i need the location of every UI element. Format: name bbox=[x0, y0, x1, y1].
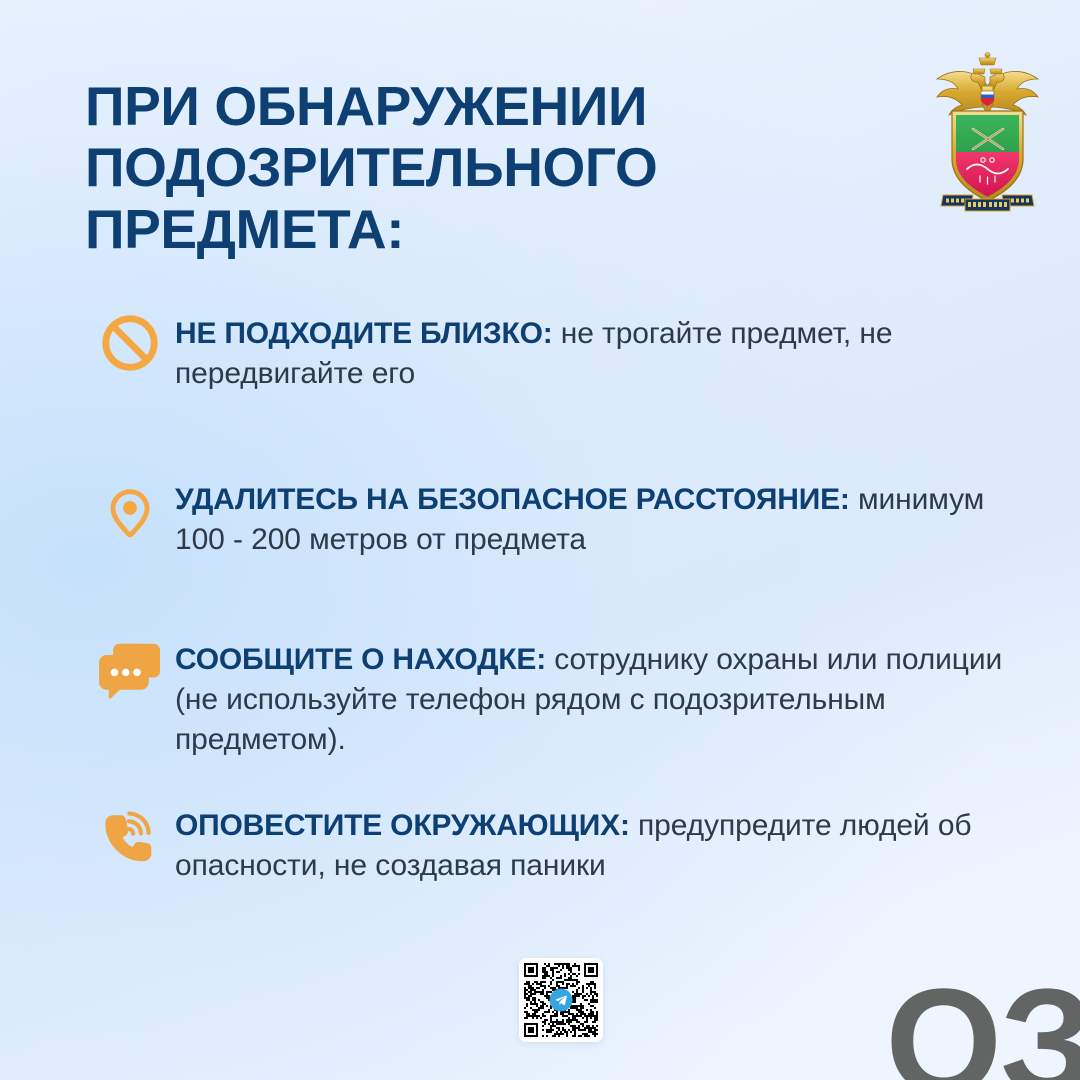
poster-canvas: ОЗ ПРИ ОБНАРУЖЕНИИ ПОДОЗРИТЕЛЬНОГО ПРЕДМ… bbox=[0, 0, 1080, 1080]
emblem-shield bbox=[952, 111, 1023, 201]
map-pin-icon bbox=[85, 476, 175, 544]
list-item-heading: СООБЩИТЕ О НАХОДКЕ: bbox=[175, 643, 546, 676]
list-item-text: НЕ ПОДХОДИТЕ БЛИЗКО: не трогайте предмет… bbox=[175, 310, 1015, 394]
list-item-text: СООБЩИТЕ О НАХОДКЕ: сотруднику охраны ил… bbox=[175, 636, 1015, 760]
list-item: УДАЛИТЕСЬ НА БЕЗОПАСНОЕ РАССТОЯНИЕ: мини… bbox=[85, 476, 1015, 560]
list-item-text: УДАЛИТЕСЬ НА БЕЗОПАСНОЕ РАССТОЯНИЕ: мини… bbox=[175, 476, 1015, 560]
list-item-heading: НЕ ПОДХОДИТЕ БЛИЗКО: bbox=[175, 317, 553, 350]
chat-bubbles-icon bbox=[85, 636, 175, 700]
list-item: НЕ ПОДХОДИТЕ БЛИЗКО: не трогайте предмет… bbox=[85, 310, 1015, 394]
list-item: СООБЩИТЕ О НАХОДКЕ: сотруднику охраны ил… bbox=[85, 636, 1015, 760]
telegram-icon bbox=[550, 989, 573, 1012]
eagle-icon bbox=[937, 52, 1038, 115]
page-title: ПРИ ОБНАРУЖЕНИИ ПОДОЗРИТЕЛЬНОГО ПРЕДМЕТА… bbox=[85, 76, 785, 260]
list-item: ОПОВЕСТИТЕ ОКРУЖАЮЩИХ: предупредите люде… bbox=[85, 802, 1015, 886]
list-item-text: ОПОВЕСТИТЕ ОКРУЖАЮЩИХ: предупредите люде… bbox=[175, 802, 1015, 886]
mvd-emblem bbox=[925, 45, 1050, 215]
telegram-qr-code[interactable] bbox=[519, 958, 603, 1042]
prohibition-icon bbox=[85, 310, 175, 374]
list-item-heading: УДАЛИТЕСЬ НА БЕЗОПАСНОЕ РАССТОЯНИЕ: bbox=[175, 483, 850, 516]
phone-signal-icon bbox=[85, 802, 175, 866]
qr-matrix bbox=[524, 963, 598, 1037]
list-item-heading: ОПОВЕСТИТЕ ОКРУЖАЮЩИХ: bbox=[175, 809, 630, 842]
watermark-text: ОЗ bbox=[885, 966, 1080, 1080]
